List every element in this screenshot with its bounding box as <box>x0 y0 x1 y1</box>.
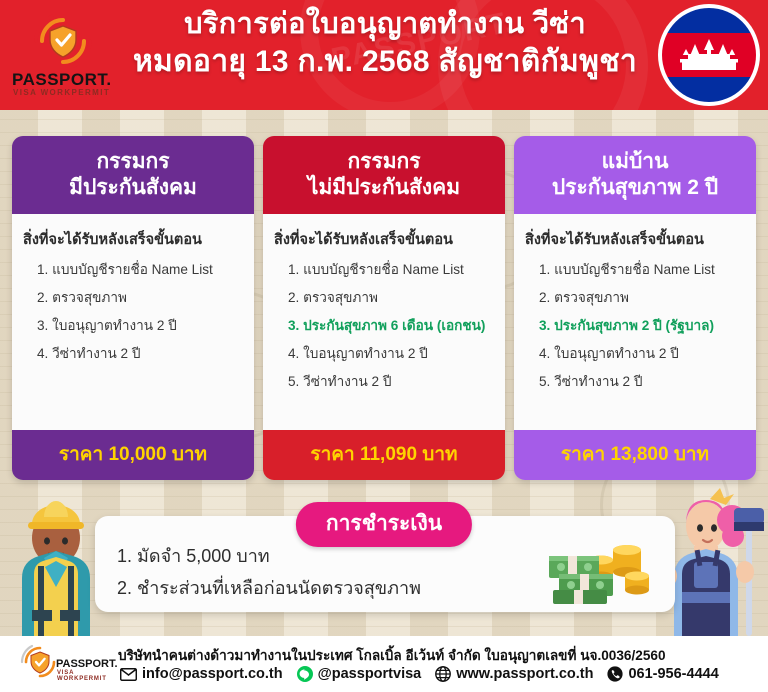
footer-brand-logo: PASSPORT. VISA WORKPERMIT <box>14 640 112 688</box>
footer-brand-tagline: VISA WORKPERMIT <box>57 670 112 682</box>
card-1-title-line2: มีประกันสังคม <box>18 175 248 201</box>
angkor-wat-icon <box>678 38 740 72</box>
footer-brand-name: PASSPORT. <box>56 658 118 670</box>
footer-shield-check-icon <box>20 642 60 682</box>
footer-company-name: บริษัทนำคนต่างด้าวมาทำงานในประเทศ โกลเบิ… <box>118 644 666 666</box>
payment-badge: การชำระเงิน <box>296 502 472 547</box>
footer-bar: PASSPORT. VISA WORKPERMIT บริษัทนำคนต่าง… <box>0 636 768 692</box>
card-3-title-line2: ประกันสุขภาพ 2 ปี <box>520 175 750 201</box>
globe-icon <box>435 666 451 682</box>
card-2-subtitle: สิ่งที่จะได้รับหลังเสร็จขั้นตอน <box>274 228 496 251</box>
list-item-highlight: 3. ประกันสุขภาพ 6 เดือน (เอกชน) <box>274 318 496 335</box>
card-2-price: ราคา 11,090 บาท <box>263 430 505 480</box>
money-stack-icon <box>541 530 653 608</box>
list-item: 4. ใบอนุญาตทำงาน 2 ปี <box>525 346 747 363</box>
footer-line-id[interactable]: @passportvisa <box>297 666 422 682</box>
pricing-card-1[interactable]: กรรมกร มีประกันสังคม สิ่งที่จะได้รับหลัง… <box>12 136 254 480</box>
list-item: 2. ตรวจสุขภาพ <box>274 290 496 307</box>
title-line-1: บริการต่อใบอนุญาตทำงาน วีซ่า <box>130 8 640 40</box>
list-item-highlight: 3. ประกันสุขภาพ 2 ปี (รัฐบาล) <box>525 318 747 335</box>
list-item: 5. วีซ่าทำงาน 2 ปี <box>274 374 496 391</box>
footer-email[interactable]: info@passport.co.th <box>120 666 283 682</box>
card-1-list: 1. แบบบัญชีรายชื่อ Name List 2. ตรวจสุขภ… <box>23 262 245 363</box>
title-line-2: หมดอายุ 13 ก.พ. 2568 สัญชาติกัมพูชา <box>130 45 640 79</box>
pricing-card-2[interactable]: กรรมกร ไม่มีประกันสังคม สิ่งที่จะได้รับห… <box>263 136 505 480</box>
footer-phone-text: 061-956-4444 <box>628 666 718 682</box>
card-3-price: ราคา 13,800 บาท <box>514 430 756 480</box>
card-2-body: สิ่งที่จะได้รับหลังเสร็จขั้นตอน 1. แบบบั… <box>263 214 505 430</box>
card-3-list: 1. แบบบัญชีรายชื่อ Name List 2. ตรวจสุขภ… <box>525 262 747 391</box>
brand-logo: PASSPORT. VISA WORKPERMIT <box>8 8 126 102</box>
list-item: 5. วีซ่าทำงาน 2 ปี <box>525 374 747 391</box>
list-item: 3. ใบอนุญาตทำงาน 2 ปี <box>23 318 245 335</box>
footer-line-text: @passportvisa <box>318 666 422 682</box>
card-2-title-line1: กรรมกร <box>269 149 499 175</box>
envelope-icon <box>120 668 137 681</box>
flag-band-bottom <box>662 77 756 102</box>
card-2-title-line2: ไม่มีประกันสังคม <box>269 175 499 201</box>
construction-worker-icon <box>2 484 110 636</box>
flag-band-top <box>662 8 756 33</box>
pricing-cards: กรรมกร มีประกันสังคม สิ่งที่จะได้รับหลัง… <box>0 136 768 480</box>
list-item: 4. วีซ่าทำงาน 2 ปี <box>23 346 245 363</box>
list-item: 1. แบบบัญชีรายชื่อ Name List <box>23 262 245 279</box>
page-title: บริการต่อใบอนุญาตทำงาน วีซ่า หมดอายุ 13 … <box>130 8 640 79</box>
list-item: 1. แบบบัญชีรายชื่อ Name List <box>274 262 496 279</box>
payment-item: 2. ชำระส่วนที่เหลือก่อนนัดตรวจสุขภาพ <box>117 578 421 600</box>
card-3-header: แม่บ้าน ประกันสุขภาพ 2 ปี <box>514 136 756 214</box>
list-item: 2. ตรวจสุขภาพ <box>23 290 245 307</box>
line-chat-icon <box>297 666 313 682</box>
housekeeper-icon <box>660 480 768 636</box>
footer-website[interactable]: www.passport.co.th <box>435 666 593 682</box>
brand-name: PASSPORT. <box>12 70 112 90</box>
brand-tagline: VISA WORKPERMIT <box>13 88 110 97</box>
shield-check-icon <box>32 10 94 72</box>
card-3-body: สิ่งที่จะได้รับหลังเสร็จขั้นตอน 1. แบบบั… <box>514 214 756 430</box>
cambodia-flag-icon <box>658 4 760 106</box>
flag-inner <box>662 8 756 102</box>
poster-root: PASSPORT. PASSPORT. VISA WORKPERMIT บริก… <box>0 0 768 692</box>
header-banner: PASSPORT. PASSPORT. VISA WORKPERMIT บริก… <box>0 0 768 110</box>
card-1-price: ราคา 10,000 บาท <box>12 430 254 480</box>
pricing-card-3[interactable]: แม่บ้าน ประกันสุขภาพ 2 ปี สิ่งที่จะได้รั… <box>514 136 756 480</box>
card-1-title-line1: กรรมกร <box>18 149 248 175</box>
footer-website-text: www.passport.co.th <box>456 666 593 682</box>
footer-phone[interactable]: 061-956-4444 <box>607 666 718 682</box>
card-1-header: กรรมกร มีประกันสังคม <box>12 136 254 214</box>
list-item: 2. ตรวจสุขภาพ <box>525 290 747 307</box>
card-2-header: กรรมกร ไม่มีประกันสังคม <box>263 136 505 214</box>
card-3-title-line1: แม่บ้าน <box>520 149 750 175</box>
payment-list: 1. มัดจำ 5,000 บาท 2. ชำระส่วนที่เหลือก่… <box>117 546 421 609</box>
list-item: 1. แบบบัญชีรายชื่อ Name List <box>525 262 747 279</box>
phone-icon <box>607 666 623 682</box>
payment-item: 1. มัดจำ 5,000 บาท <box>117 546 421 568</box>
card-1-body: สิ่งที่จะได้รับหลังเสร็จขั้นตอน 1. แบบบั… <box>12 214 254 430</box>
footer-email-text: info@passport.co.th <box>142 666 283 682</box>
card-3-subtitle: สิ่งที่จะได้รับหลังเสร็จขั้นตอน <box>525 228 747 251</box>
footer-contact-row: info@passport.co.th @passportvisa www.pa… <box>120 666 719 682</box>
card-1-subtitle: สิ่งที่จะได้รับหลังเสร็จขั้นตอน <box>23 228 245 251</box>
card-2-list: 1. แบบบัญชีรายชื่อ Name List 2. ตรวจสุขภ… <box>274 262 496 391</box>
list-item: 4. ใบอนุญาตทำงาน 2 ปี <box>274 346 496 363</box>
